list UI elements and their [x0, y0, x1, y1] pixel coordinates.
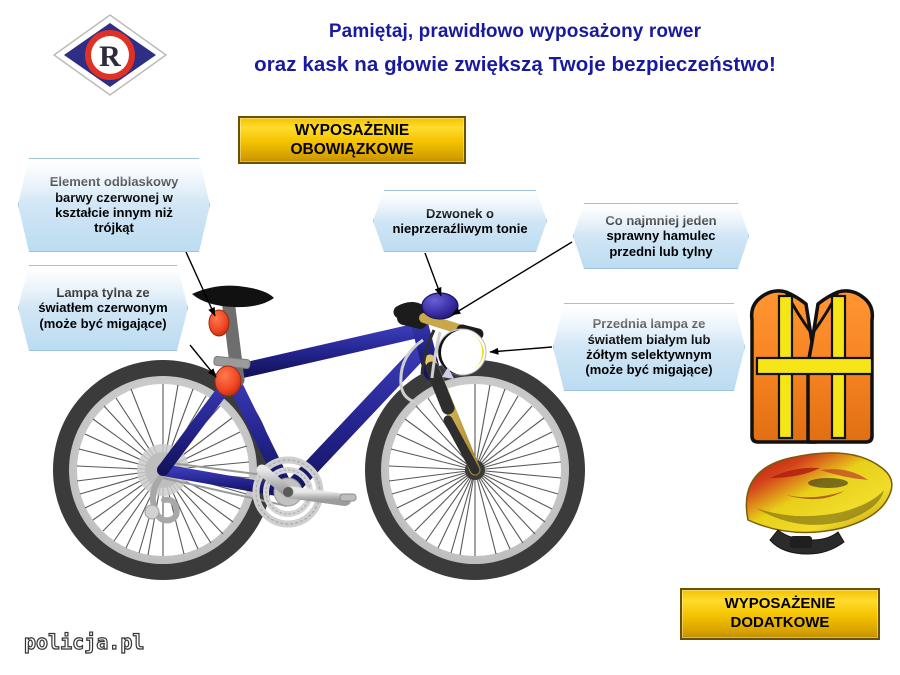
arrow-to-brake-lever — [452, 242, 572, 315]
banner-mandatory-equipment[interactable]: WYPOSAŻENIE OBOWIĄZKOWE — [238, 116, 466, 164]
arrow-to-bell — [425, 253, 441, 296]
reflective-safety-vest — [752, 291, 873, 442]
callout-rear-lamp-text: Lampa tylna ze światłem czerwonym (może … — [35, 285, 171, 331]
banner-mandatory-line1: WYPOSAŻENIE — [295, 121, 410, 140]
bicycle-helmet — [746, 453, 891, 554]
callout-red-reflector-text: Element odblaskowy barwy czerwonej w ksz… — [35, 174, 193, 235]
callout-bell-text: Dzwonek o nieprzeraźliwym tonie — [390, 206, 530, 237]
arrow-to-front-lamp — [490, 347, 552, 352]
callout-brake[interactable]: Co najmniej jeden sprawny hamulec przedn… — [573, 203, 749, 269]
infographic-canvas: R Pamiętaj, prawidłowo wyposażony rower … — [0, 0, 900, 675]
title-line-1: Pamiętaj, prawidłowo wyposażony rower — [170, 22, 860, 41]
logo-letter: R — [99, 40, 121, 73]
arrow-to-seatpost-reflector — [186, 252, 215, 316]
callout-arrows — [186, 242, 572, 377]
banner-additional-line1: WYPOSAŻENIE — [725, 595, 836, 614]
callout-front-lamp-text: Przednia lampa ze światłem białym lub żó… — [570, 316, 728, 377]
police-traffic-r-logo: R — [52, 13, 168, 97]
banner-additional-line2: DODATKOWE — [731, 614, 830, 633]
title-line-2: oraz kask na głowie zwiększą Twoje bezpi… — [170, 55, 860, 76]
rear-red-reflector — [215, 366, 241, 396]
callout-red-reflector[interactable]: Element odblaskowy barwy czerwonej w ksz… — [18, 158, 210, 252]
watermark-policja-pl: policja.pl — [24, 630, 144, 654]
callout-rear-lamp[interactable]: Lampa tylna ze światłem czerwonym (może … — [18, 265, 188, 351]
banner-mandatory-line2: OBOWIĄZKOWE — [290, 140, 413, 159]
seatpost-reflector — [209, 310, 229, 336]
callout-brake-text: Co najmniej jeden sprawny hamulec przedn… — [590, 213, 732, 259]
page-title: Pamiętaj, prawidłowo wyposażony rower or… — [170, 22, 860, 76]
callout-front-lamp[interactable]: Przednia lampa ze światłem białym lub żó… — [553, 303, 745, 391]
callout-bell[interactable]: Dzwonek o nieprzeraźliwym tonie — [373, 190, 547, 252]
banner-additional-equipment[interactable]: WYPOSAŻENIE DODATKOWE — [680, 588, 880, 640]
